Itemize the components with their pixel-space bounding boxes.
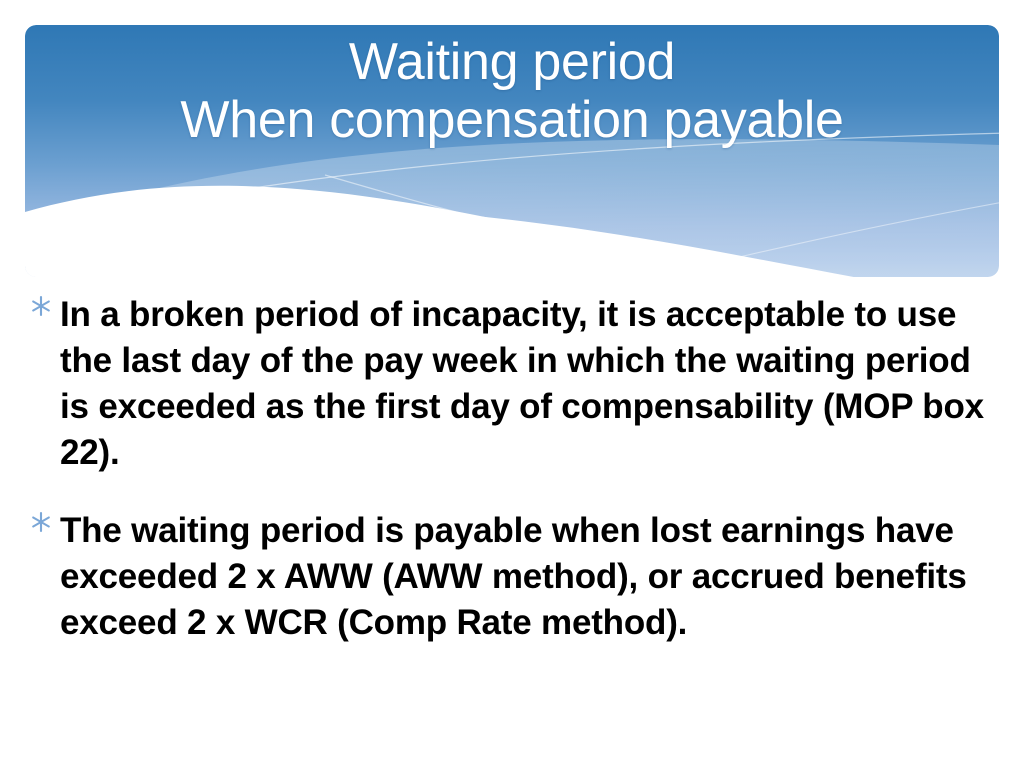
banner-graphic: [25, 25, 999, 277]
bullet-list-item: In a broken period of incapacity, it is …: [28, 292, 990, 476]
bullet-text: The waiting period is payable when lost …: [60, 508, 990, 646]
presentation-slide: Waiting period When compensation payable…: [0, 0, 1024, 768]
slide-body: In a broken period of incapacity, it is …: [28, 292, 990, 646]
bullet-list-item: The waiting period is payable when lost …: [28, 508, 990, 646]
bullet-text: In a broken period of incapacity, it is …: [60, 292, 990, 476]
asterisk-bullet-icon: [30, 294, 52, 318]
asterisk-bullet-icon: [30, 510, 52, 534]
title-banner: [25, 25, 999, 277]
